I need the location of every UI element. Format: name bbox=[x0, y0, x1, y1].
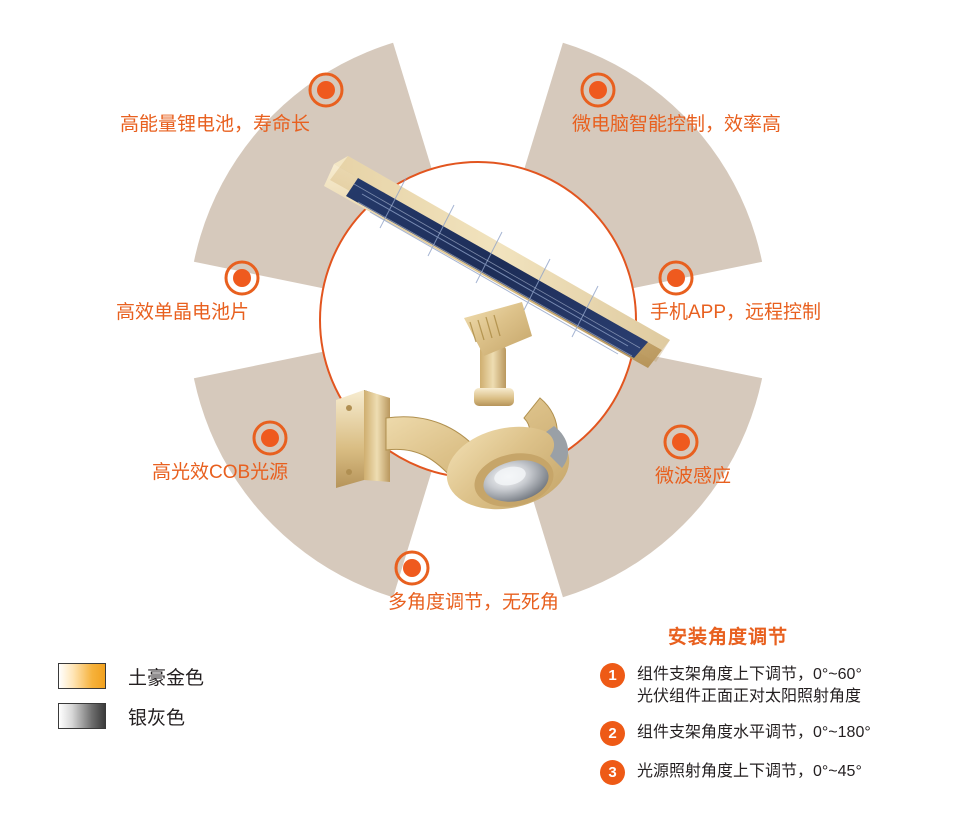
color-option-legend: 土豪金色 银灰色 bbox=[58, 656, 204, 736]
angle-item: 2 组件支架角度水平调节，0°~180° bbox=[600, 721, 950, 746]
tilt-bracket bbox=[464, 302, 532, 356]
wall-bracket bbox=[336, 390, 390, 488]
target-dot-icon bbox=[394, 550, 430, 586]
angle-item-text: 光源照射角度上下调节，0°~45° bbox=[637, 760, 862, 783]
feature-cob-light-source[interactable]: 高光效COB光源 bbox=[152, 420, 288, 485]
install-angle-panel: 安装角度调节 1 组件支架角度上下调节，0°~60° 光伏组件正面正对太阳照射角… bbox=[600, 622, 950, 799]
angle-line: 光源照射角度上下调节，0°~45° bbox=[637, 761, 862, 783]
feature-high-energy-lithium-battery[interactable]: 高能量锂电池，寿命长 bbox=[120, 72, 344, 137]
feature-label: 多角度调节，无死角 bbox=[388, 592, 559, 615]
angle-line: 组件支架角度水平调节，0°~180° bbox=[637, 722, 871, 744]
feature-microwave-sensing[interactable]: 微波感应 bbox=[655, 424, 731, 489]
angle-badge-3: 3 bbox=[600, 760, 625, 785]
feature-label: 手机APP，远程控制 bbox=[650, 302, 821, 325]
target-dot-icon bbox=[658, 260, 694, 296]
angle-item: 3 光源照射角度上下调节，0°~45° bbox=[600, 760, 950, 785]
angle-item: 1 组件支架角度上下调节，0°~60° 光伏组件正面正对太阳照射角度 bbox=[600, 663, 950, 707]
feature-label: 高效单晶电池片 bbox=[116, 302, 249, 325]
silver-gradient-swatch bbox=[58, 703, 106, 729]
angle-line: 组件支架角度上下调节，0°~60° bbox=[637, 664, 862, 686]
target-dot-icon bbox=[308, 72, 344, 108]
feature-label: 高光效COB光源 bbox=[152, 462, 288, 485]
product-image-solar-street-light bbox=[318, 150, 678, 510]
feature-multi-angle-adjust[interactable]: 多角度调节，无死角 bbox=[388, 550, 559, 615]
target-dot-icon bbox=[252, 420, 288, 456]
feature-label: 微电脑智能控制，效率高 bbox=[572, 114, 781, 137]
feature-monocrystalline-cell[interactable]: 高效单晶电池片 bbox=[116, 260, 260, 325]
feature-label: 微波感应 bbox=[655, 466, 731, 489]
feature-label: 高能量锂电池，寿命长 bbox=[120, 114, 310, 137]
legend-row-silver[interactable]: 银灰色 bbox=[58, 696, 204, 736]
target-dot-icon bbox=[580, 72, 616, 108]
target-dot-icon bbox=[663, 424, 699, 460]
mounting-post bbox=[474, 346, 514, 406]
angle-badge-1: 1 bbox=[600, 663, 625, 688]
angle-item-text: 组件支架角度水平调节，0°~180° bbox=[637, 721, 871, 744]
lamp-head bbox=[439, 416, 577, 510]
legend-row-gold[interactable]: 土豪金色 bbox=[58, 656, 204, 696]
target-dot-icon bbox=[224, 260, 260, 296]
gold-gradient-swatch bbox=[58, 663, 106, 689]
legend-label: 土豪金色 bbox=[128, 663, 204, 690]
angle-item-text: 组件支架角度上下调节，0°~60° 光伏组件正面正对太阳照射角度 bbox=[637, 663, 862, 707]
feature-diagram: 高能量锂电池，寿命长 微电脑智能控制，效率高 高效单晶电池片 手机APP，远程控… bbox=[0, 0, 956, 640]
feature-mobile-app-remote-control[interactable]: 手机APP，远程控制 bbox=[650, 260, 821, 325]
angle-panel-title: 安装角度调节 bbox=[668, 622, 950, 649]
legend-label: 银灰色 bbox=[128, 703, 185, 730]
feature-microcomputer-smart-control[interactable]: 微电脑智能控制，效率高 bbox=[572, 72, 781, 137]
angle-badge-2: 2 bbox=[600, 721, 625, 746]
angle-line: 光伏组件正面正对太阳照射角度 bbox=[637, 686, 862, 708]
